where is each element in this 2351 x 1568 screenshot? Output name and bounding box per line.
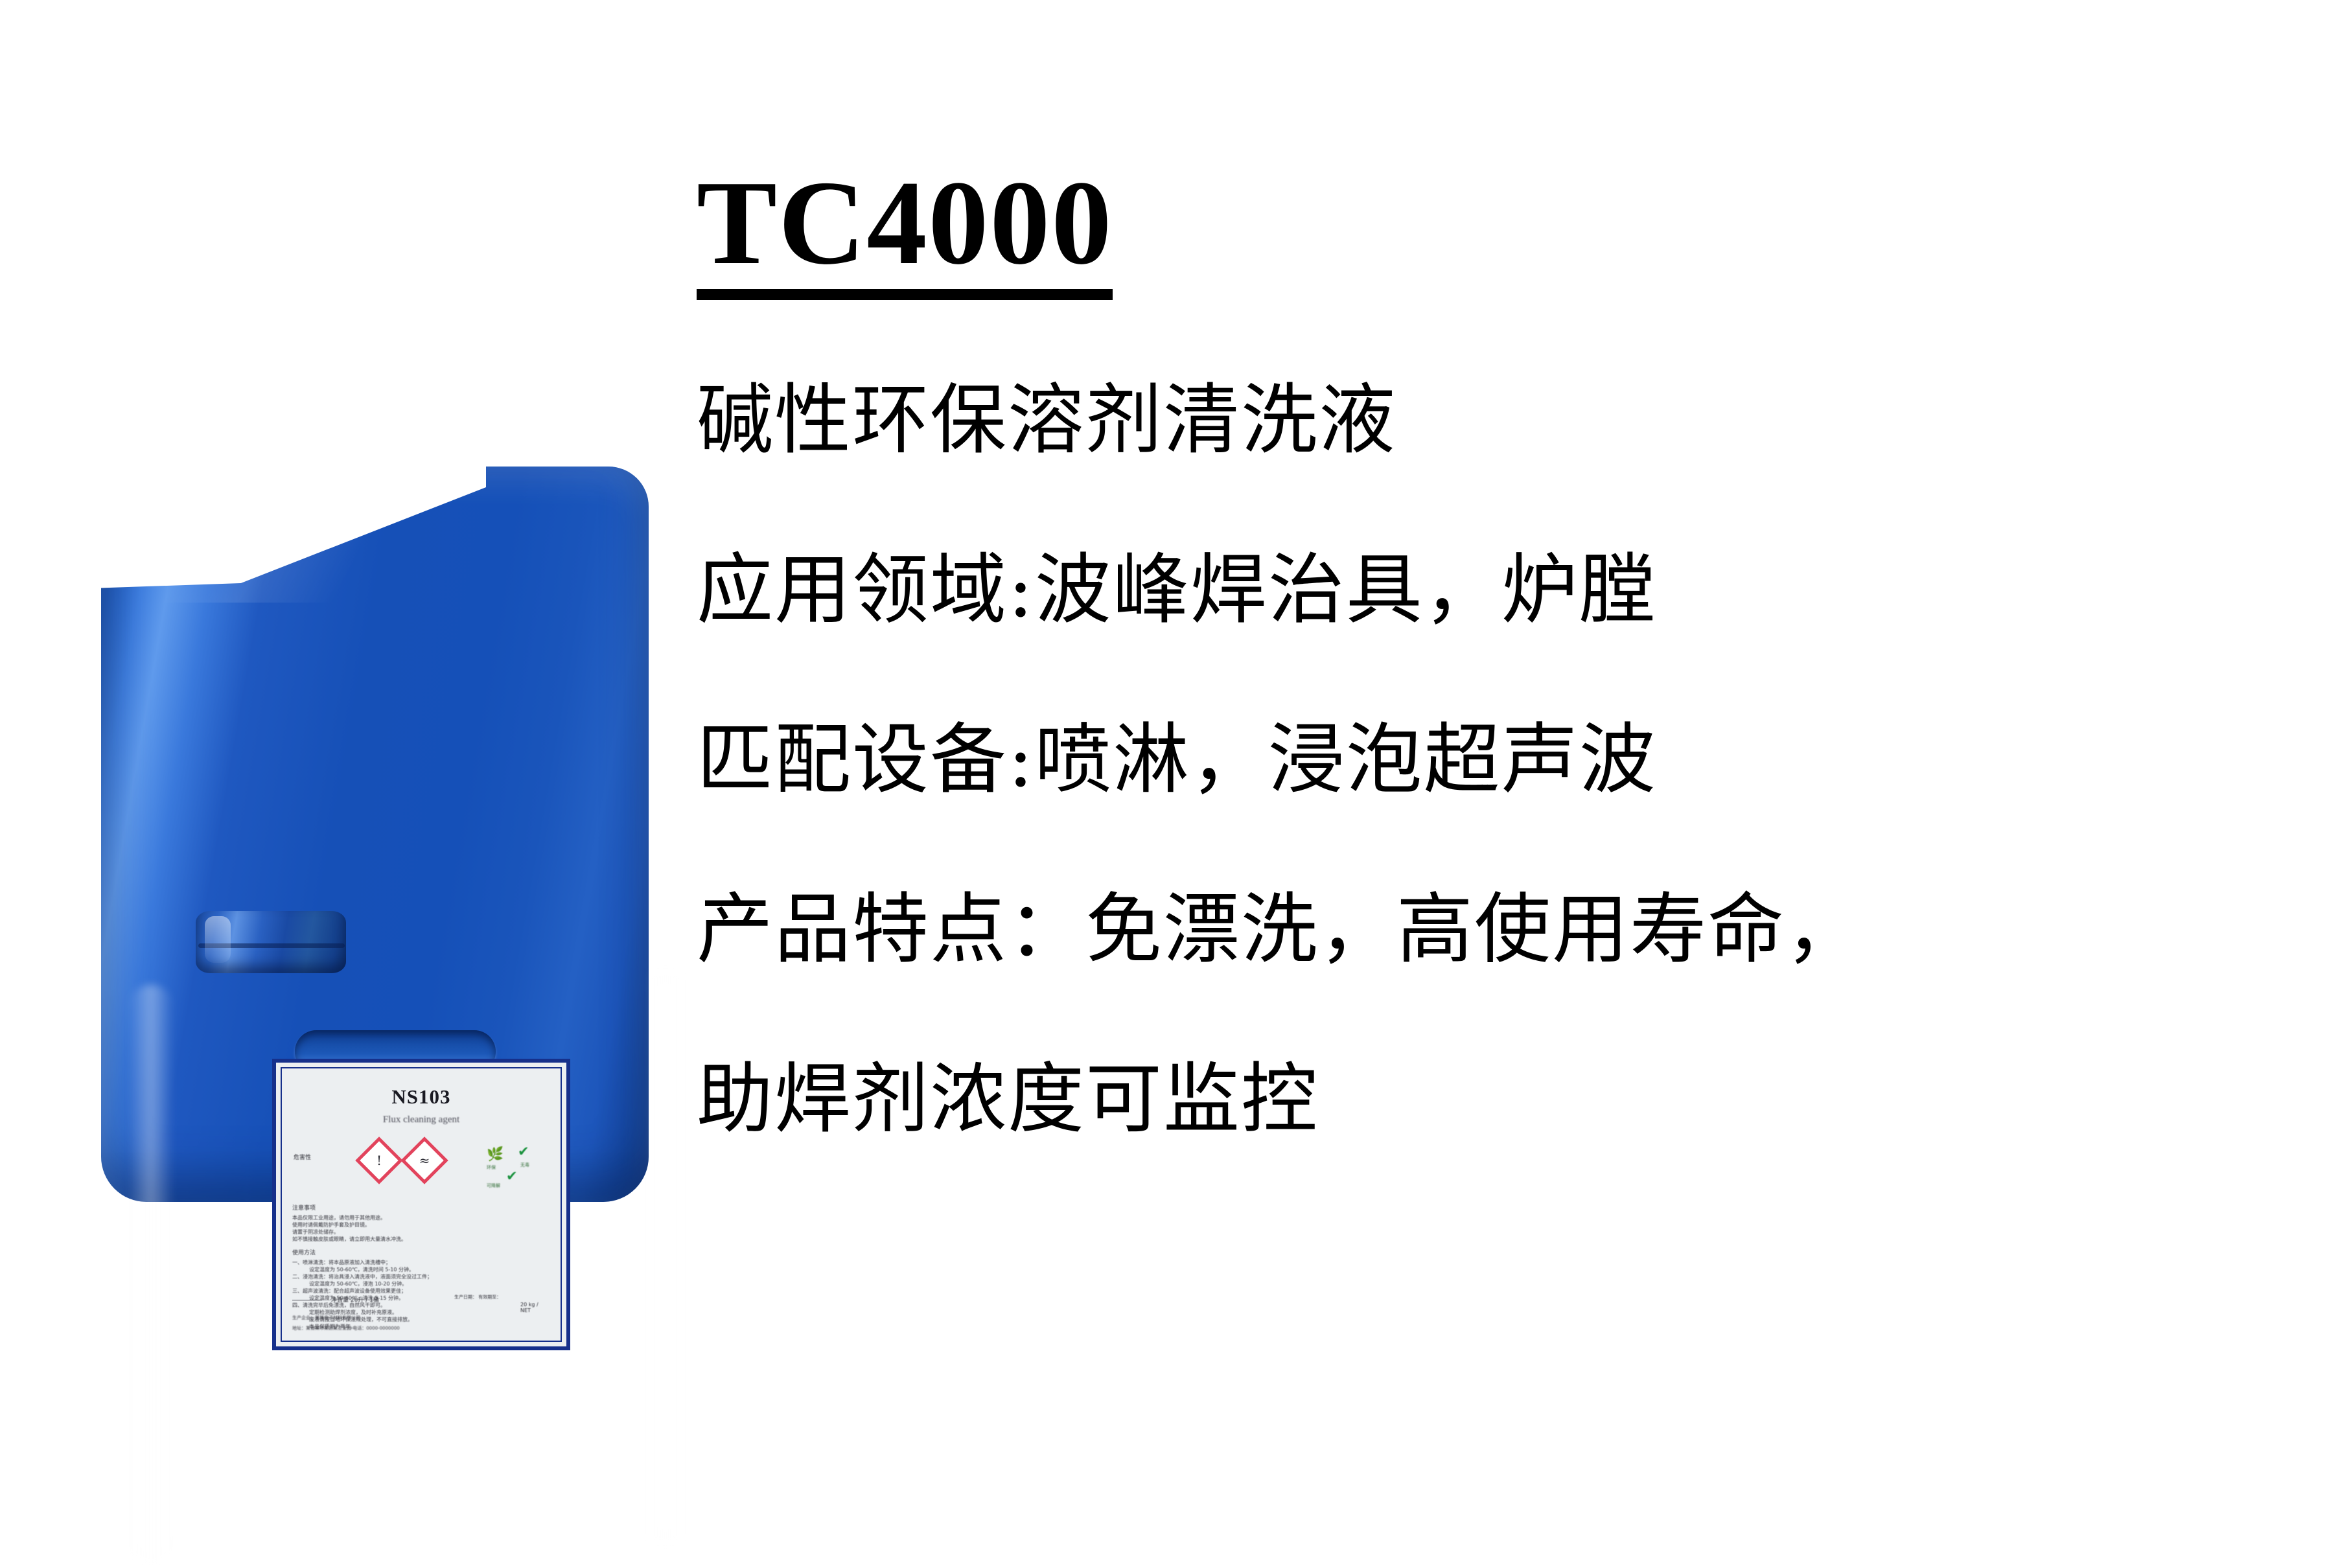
label-usage-heading: 使用方法: [292, 1248, 550, 1256]
label-company-address: 地址：某省某市某区某工业园 电话：0000-0000000: [292, 1325, 550, 1332]
label-caution-line: 使用时请佩戴防护手套及护目镜。: [292, 1221, 550, 1228]
jerry-can-right-highlight: [648, 965, 683, 1549]
label-product-subtitle: Flux cleaning agent: [292, 1114, 550, 1125]
eco-check-icon-2: ✔: [506, 1168, 518, 1184]
label-usage-line: 设定温度为 50-60℃，浸泡 10-20 分钟。: [292, 1280, 550, 1287]
eco-check-caption: 无毒: [520, 1162, 529, 1168]
product-label-inner-frame: NS103 Flux cleaning agent 危害性 ! ≈ 🌿 ✔ ✔ …: [281, 1067, 562, 1342]
ghs-corrosion-icon: ≈: [400, 1136, 448, 1184]
spec-line-features: 产品特点：免漂洗，高使用寿命，: [697, 844, 2336, 1014]
label-net-content: 净含量 20升 / 1桶: [331, 1295, 379, 1304]
label-usage-line: 设定温度为 50-60℃，清洗时间 5-10 分钟。: [292, 1266, 550, 1273]
slide-canvas: NS103 Flux cleaning agent 危害性 ! ≈ 🌿 ✔ ✔ …: [0, 0, 2351, 1469]
label-hazard-heading: 危害性: [294, 1153, 311, 1161]
label-usage-line: 一、喷淋清洗：将本品原液加入清洗槽中；: [292, 1259, 550, 1266]
label-net-weight: 20 kg / NET: [520, 1302, 550, 1313]
label-caution-line: 本品仅限工业用途，请勿用于其他用途。: [292, 1214, 550, 1221]
eco-leaf-icon: 🌿: [487, 1146, 504, 1162]
ghs-corrosion-glyph: ≈: [411, 1147, 438, 1174]
label-caution-line: 如不慎接触皮肤或眼睛，请立即用大量清水冲洗。: [292, 1236, 550, 1243]
label-caution-heading: 注意事项: [292, 1203, 550, 1212]
label-usage-line: 二、浸泡清洗：将治具浸入清洗液中，液面须完全没过工件；: [292, 1273, 550, 1280]
spec-line-equipment: 匹配设备:喷淋，浸泡超声波: [697, 674, 2336, 844]
label-company-line: 生产企业：某某电子材料有限公司: [292, 1315, 550, 1321]
spec-line-description: 碱性环保溶剂清洗液: [697, 335, 2336, 505]
label-batch-info: 生产日期： 有效期至：: [454, 1294, 501, 1300]
label-caution-line: 请置于阴凉处储存。: [292, 1228, 550, 1236]
ghs-exclamation-mark-icon: !: [355, 1136, 403, 1184]
ghs-exclamation-glyph: !: [365, 1147, 393, 1174]
label-divider: [292, 1300, 322, 1300]
page-title: TC4000: [697, 162, 1113, 300]
jerry-can-cap-highlight: [205, 916, 231, 963]
product-photo: NS103 Flux cleaning agent 危害性 ! ≈ 🌿 ✔ ✔ …: [78, 447, 661, 1212]
jerry-can-left-highlight: [128, 985, 174, 1568]
eco-leaf-caption: 环保: [487, 1164, 496, 1171]
spec-line-features-cont: 助焊剂浓度可监控: [697, 1014, 2336, 1184]
product-label: NS103 Flux cleaning agent 危害性 ! ≈ 🌿 ✔ ✔ …: [272, 1059, 570, 1350]
spec-line-application: 应用领域:波峰焊治具，炉膛: [697, 505, 2336, 674]
product-text-block: TC4000 碱性环保溶剂清洗液 应用领域:波峰焊治具，炉膛 匹配设备:喷淋，浸…: [697, 162, 2336, 1184]
eco-check-icon: ✔: [518, 1144, 529, 1159]
label-footer-row: 净含量 20升 / 1桶 生产日期： 有效期至： 20 kg / NET: [292, 1294, 550, 1311]
label-product-code: NS103: [292, 1085, 550, 1109]
eco-mark-caption-3: 可降解: [487, 1182, 500, 1189]
label-pictogram-row: 危害性 ! ≈ 🌿 ✔ ✔ 环保 无毒 可降解: [292, 1136, 550, 1198]
product-spec-list: 碱性环保溶剂清洗液 应用领域:波峰焊治具，炉膛 匹配设备:喷淋，浸泡超声波 产品…: [697, 335, 2336, 1184]
label-footer: 净含量 20升 / 1桶 生产日期： 有效期至： 20 kg / NET 生产企…: [292, 1294, 550, 1332]
